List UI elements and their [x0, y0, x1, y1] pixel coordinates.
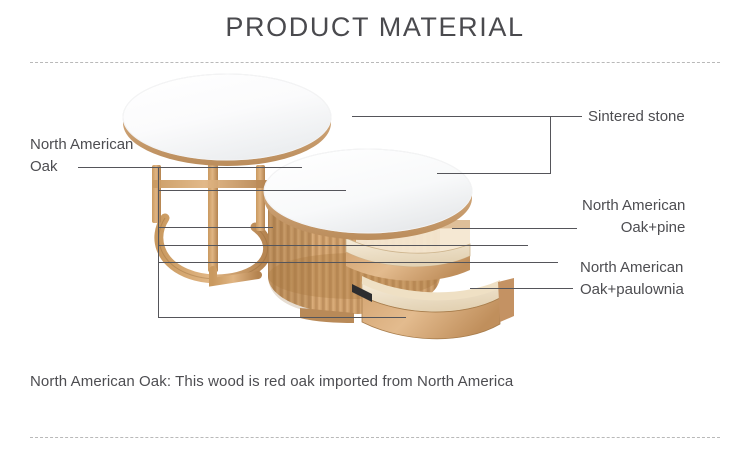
callout-sintered-line1: Sintered stone [588, 106, 685, 128]
leader-oak-branch-1 [158, 167, 302, 168]
callout-oak-left-line2: Oak [30, 156, 133, 178]
callout-label-oak-paulownia: North American Oak+paulownia [580, 257, 684, 301]
divider-bottom [30, 437, 720, 438]
leader-sintered-stone-label [550, 116, 582, 117]
callout-oak-paul-line2: Oak+paulownia [580, 279, 684, 301]
callout-label-sintered-stone: Sintered stone [588, 106, 685, 128]
callout-label-oak-pine: North American Oak+pine [582, 195, 685, 239]
big-table-top [123, 74, 331, 166]
divider-top [30, 62, 720, 63]
leader-oak-branch-3 [158, 227, 273, 228]
page-title: PRODUCT MATERIAL [0, 12, 750, 43]
leader-oak-branch-2 [158, 190, 346, 191]
leader-oak-branch-5 [158, 262, 558, 263]
callout-oak-paul-line1: North American [580, 257, 684, 279]
small-table-top [264, 149, 472, 240]
big-table-frame [152, 160, 268, 282]
leader-oak-branch-4 [158, 245, 528, 246]
leader-sintered-stone-lower [437, 173, 551, 174]
callout-oak-pine-line2: Oak+pine [582, 217, 685, 239]
callout-oak-left-line1: North American [30, 134, 133, 156]
leader-oak-pine [452, 228, 577, 229]
footnote-text: North American Oak: This wood is red oak… [30, 373, 513, 390]
leader-oak-paulownia [470, 288, 573, 289]
leader-sintered-stone-vertical [550, 116, 551, 174]
product-material-infographic: PRODUCT MATERIAL [0, 0, 750, 458]
callout-oak-pine-line1: North American [582, 195, 685, 217]
leader-sintered-stone-top [352, 116, 550, 117]
leader-oak-branch-6 [158, 317, 406, 318]
callout-label-north-american-oak: North American Oak [30, 134, 133, 178]
